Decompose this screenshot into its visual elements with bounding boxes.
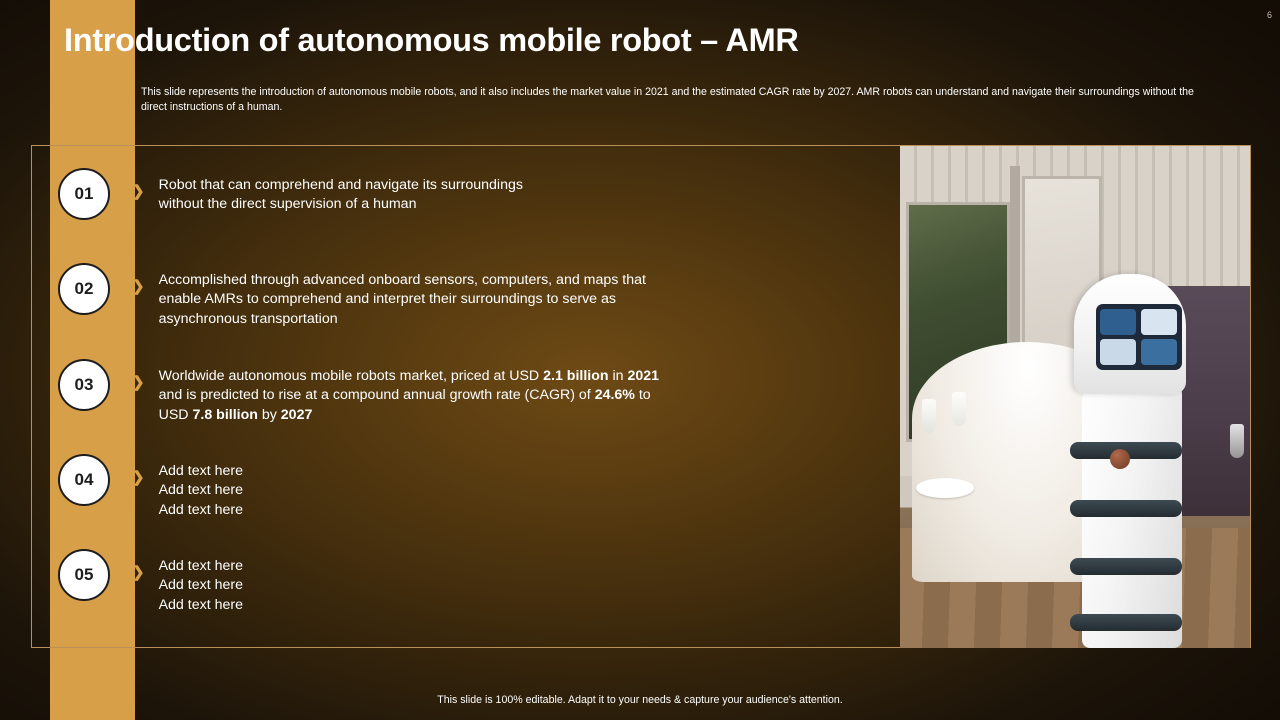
chevron-right-icon: ❯ xyxy=(132,375,145,390)
robot-power-button xyxy=(1110,449,1130,469)
robot-tray xyxy=(1070,500,1182,517)
item-text: Accomplished through advanced onboard se… xyxy=(159,271,646,329)
robot-photo xyxy=(900,146,1250,648)
item-text: Add text here Add text here Add text her… xyxy=(159,557,243,615)
footer-note: This slide is 100% editable. Adapt it to… xyxy=(0,694,1280,706)
chevron-right-icon: ❯ xyxy=(132,565,145,580)
screen-tile xyxy=(1100,309,1136,335)
plate xyxy=(916,478,974,498)
wine-glass xyxy=(922,399,936,433)
list-item[interactable]: 05 ❯ Add text here Add text here Add tex… xyxy=(58,549,243,615)
chevron-right-icon: ❯ xyxy=(132,279,145,294)
item-number-badge: 01 xyxy=(58,168,110,220)
service-robot xyxy=(1060,274,1200,648)
wine-glass xyxy=(952,392,966,426)
slide: Introduction of autonomous mobile robot … xyxy=(0,0,1280,720)
title-accent-mark xyxy=(58,25,63,55)
bullet-marker: ❯ xyxy=(123,375,145,390)
page-title-text: Introduction of autonomous mobile robot … xyxy=(64,22,799,58)
bullet-marker: ❯ xyxy=(123,565,145,580)
item-number-badge: 03 xyxy=(58,359,110,411)
list-item[interactable]: 04 ❯ Add text here Add text here Add tex… xyxy=(58,454,243,520)
points-list: 01 ❯ Robot that can comprehend and navig… xyxy=(58,160,878,640)
bullet-marker: ❯ xyxy=(123,279,145,294)
dot-icon xyxy=(123,189,129,195)
chevron-right-icon: ❯ xyxy=(132,184,145,199)
list-item[interactable]: 01 ❯ Robot that can comprehend and navig… xyxy=(58,168,523,220)
dot-icon xyxy=(123,380,129,386)
list-item[interactable]: 02 ❯ Accomplished through advanced onboa… xyxy=(58,263,646,329)
item-text: Add text here Add text here Add text her… xyxy=(159,462,243,520)
robot-tray xyxy=(1070,558,1182,575)
item-number-badge: 04 xyxy=(58,454,110,506)
dot-icon xyxy=(123,570,129,576)
list-item[interactable]: 03 ❯ Worldwide autonomous mobile robots … xyxy=(58,359,659,425)
item-text: Robot that can comprehend and navigate i… xyxy=(159,176,523,215)
item-number-badge: 05 xyxy=(58,549,110,601)
robot-display-screen xyxy=(1096,304,1182,370)
chevron-right-icon: ❯ xyxy=(132,470,145,485)
slide-subtitle: This slide represents the introduction o… xyxy=(141,85,1206,115)
wine-glass xyxy=(1230,424,1244,458)
item-number-badge: 02 xyxy=(58,263,110,315)
page-title: Introduction of autonomous mobile robot … xyxy=(58,22,799,59)
item-text: Worldwide autonomous mobile robots marke… xyxy=(159,367,659,425)
page-number: 6 xyxy=(1267,10,1272,20)
bullet-marker: ❯ xyxy=(123,184,145,199)
robot-tray xyxy=(1070,614,1182,631)
dot-icon xyxy=(123,475,129,481)
photo-scene xyxy=(900,146,1250,648)
dot-icon xyxy=(123,284,129,290)
bullet-marker: ❯ xyxy=(123,470,145,485)
screen-tile xyxy=(1141,339,1177,365)
screen-tile xyxy=(1141,309,1177,335)
screen-tile xyxy=(1100,339,1136,365)
